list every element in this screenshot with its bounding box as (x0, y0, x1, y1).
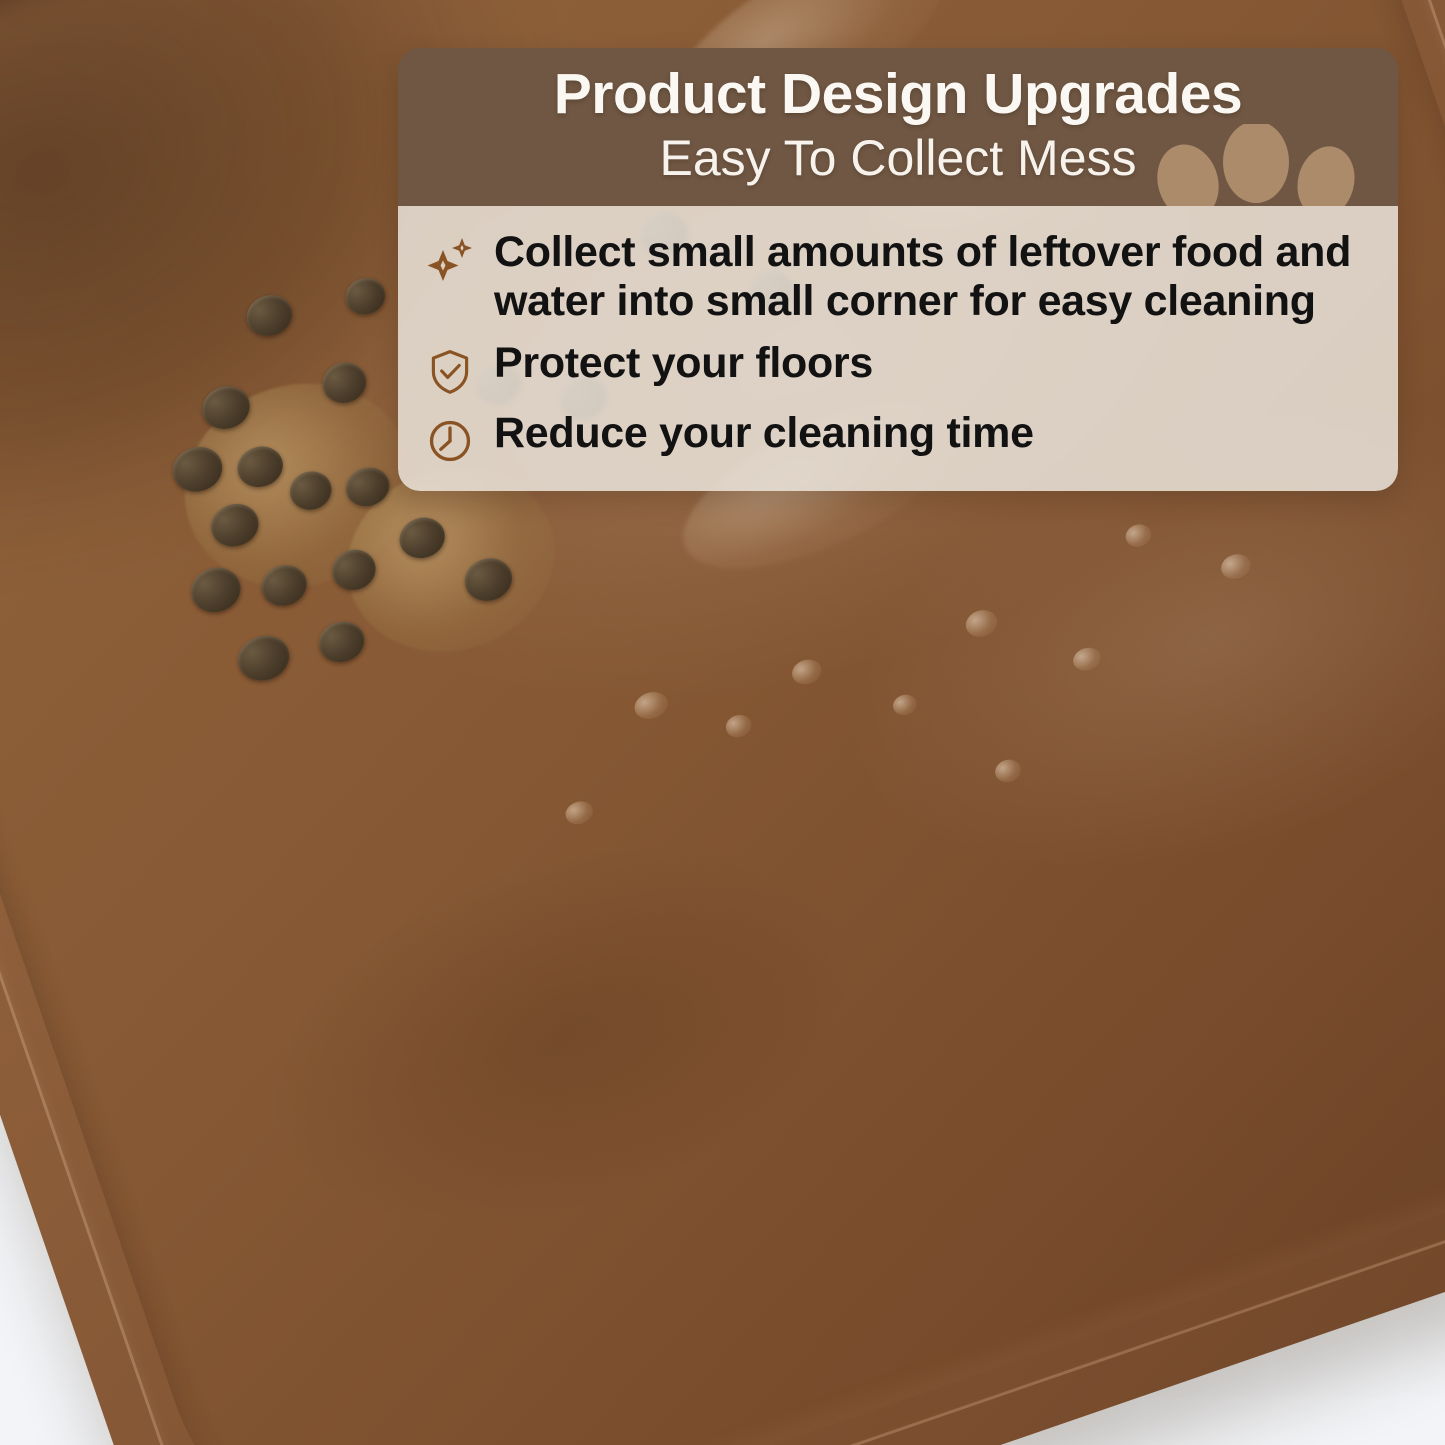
feature-card-body: Collect small amounts of leftover food a… (398, 206, 1398, 492)
sparkle-icon (424, 234, 476, 286)
feature-list: Collect small amounts of leftover food a… (424, 228, 1372, 468)
product-marketing-image: SinHot Product Design Upgrades Easy To C… (0, 0, 1445, 1445)
list-item-label: Collect small amounts of leftover food a… (494, 228, 1372, 328)
page-title: Product Design Upgrades (424, 64, 1372, 126)
list-item: Reduce your cleaning time (424, 409, 1372, 467)
page-subtitle: Easy To Collect Mess (424, 130, 1372, 186)
list-item-label: Reduce your cleaning time (494, 409, 1034, 459)
shield-check-icon (424, 345, 476, 397)
clock-icon (424, 415, 476, 467)
list-item: Protect your floors (424, 339, 1372, 397)
list-item: Collect small amounts of leftover food a… (424, 228, 1372, 328)
list-item-label: Protect your floors (494, 339, 873, 389)
feature-card-header: Product Design Upgrades Easy To Collect … (398, 48, 1398, 206)
feature-card: Product Design Upgrades Easy To Collect … (398, 48, 1398, 491)
